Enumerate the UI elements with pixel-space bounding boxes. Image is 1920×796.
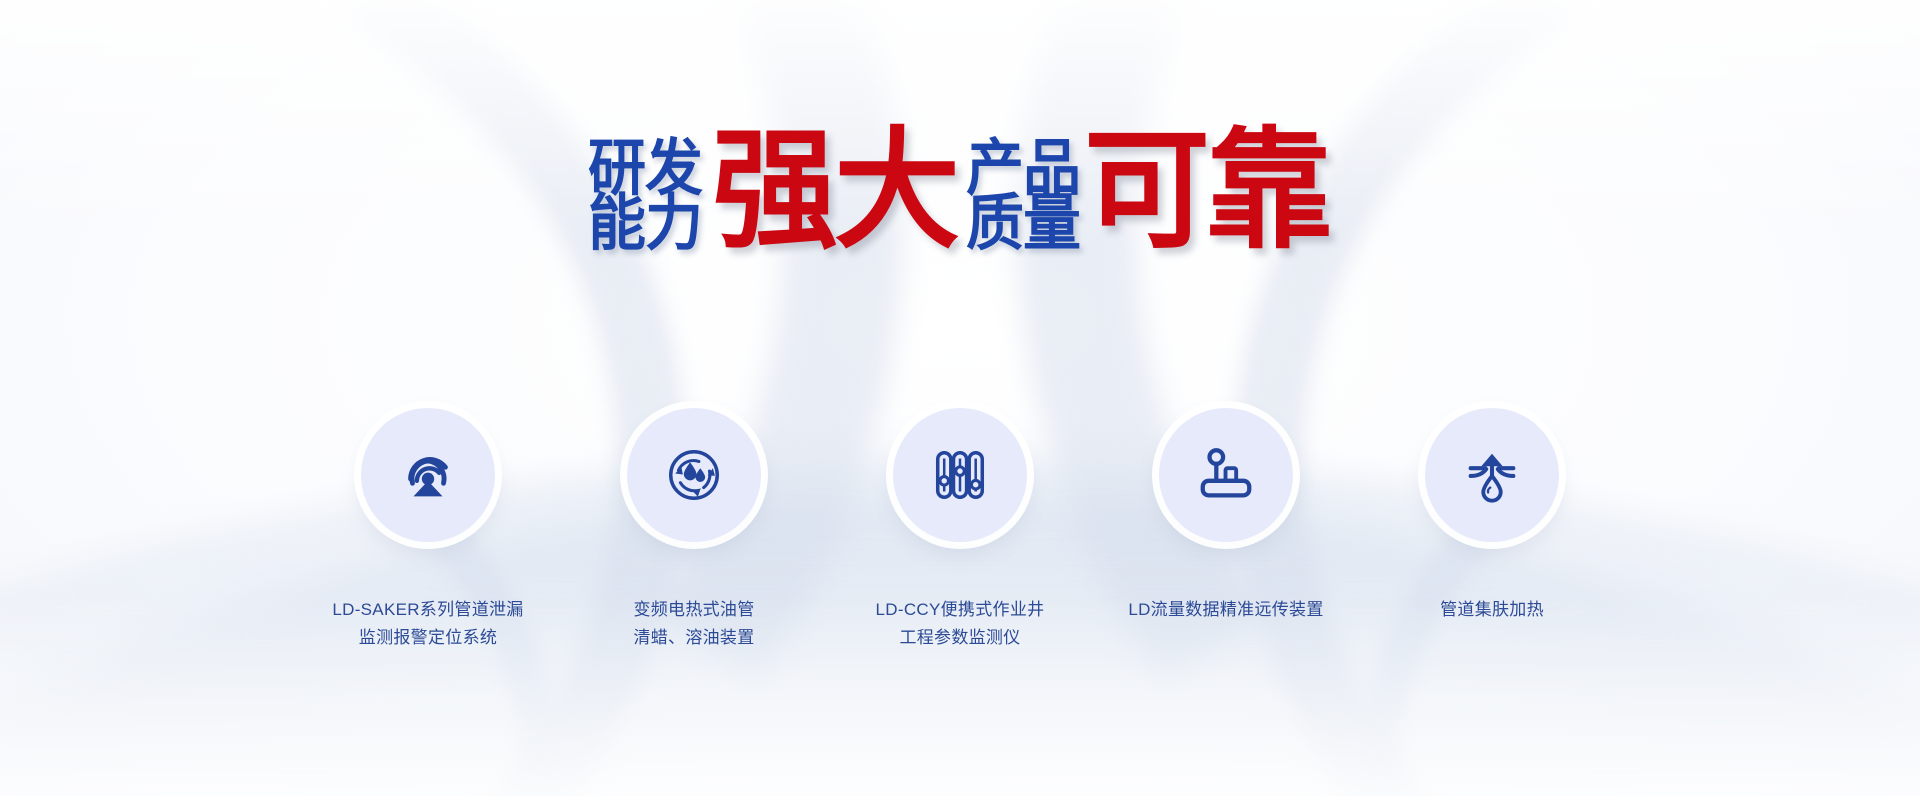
feature-item[interactable]: 管道集肤加热: [1382, 408, 1602, 624]
headline-emphasis-qiangda: 强大: [712, 125, 956, 256]
headline-line-nengli: 能力: [588, 195, 702, 253]
headline-stack-right: 产品 质量: [966, 140, 1080, 249]
promo-banner: 研发 能力 强大 产品 质量 可靠: [0, 0, 1920, 796]
signal-leak-detection-icon: [397, 444, 459, 506]
feature-list: LD-SAKER系列管道泄漏 监测报警定位系统: [0, 408, 1920, 652]
swoosh-right-1: [804, 0, 1920, 796]
vertical-sliders-icon: [929, 444, 991, 506]
feature-label: 管道集肤加热: [1440, 596, 1544, 624]
feature-label: LD-SAKER系列管道泄漏 监测报警定位系统: [332, 596, 523, 652]
feature-item[interactable]: LD-SAKER系列管道泄漏 监测报警定位系统: [318, 408, 538, 652]
feature-icon-circle[interactable]: [1159, 408, 1293, 542]
headline-line-zhiliang: 质量: [966, 195, 1080, 253]
feature-icon-circle[interactable]: [627, 408, 761, 542]
headline: 研发 能力 强大 产品 质量 可靠: [0, 128, 1920, 268]
feature-label: LD流量数据精准远传装置: [1128, 596, 1323, 624]
swoosh-left-2: [0, 0, 778, 796]
feature-icon-circle[interactable]: [893, 408, 1027, 542]
feature-label: LD-CCY便携式作业井 工程参数监测仪: [876, 596, 1045, 652]
feature-icon-circle[interactable]: [361, 408, 495, 542]
headline-stack-left: 研发 能力: [588, 140, 702, 249]
feature-item[interactable]: LD-CCY便携式作业井 工程参数监测仪: [850, 408, 1070, 652]
feature-item[interactable]: 变频电热式油管 清蜡、溶油装置: [584, 408, 804, 652]
transmitter-antenna-icon: [1195, 444, 1257, 506]
background-swooshes: [0, 0, 1920, 796]
feature-icon-circle[interactable]: [1425, 408, 1559, 542]
water-drop-recycle-icon: [663, 444, 725, 506]
feature-item[interactable]: LD流量数据精准远传装置: [1116, 408, 1336, 624]
headline-emphasis-kekao: 可靠: [1084, 125, 1328, 256]
background-gradient: [0, 0, 1920, 796]
feature-label: 变频电热式油管 清蜡、溶油装置: [633, 596, 754, 652]
arrow-up-water-drop-icon: [1461, 444, 1523, 506]
